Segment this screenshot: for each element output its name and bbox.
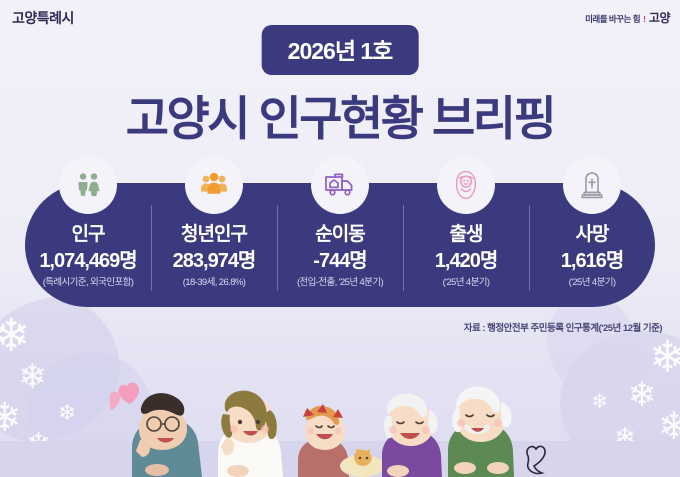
stat-note: (18-39세, 26.8%) <box>183 278 246 288</box>
stat-label: 청년인구 <box>181 225 247 244</box>
illustration-person-grandmother <box>382 393 442 477</box>
snowflake-icon: ❄ <box>26 430 51 460</box>
page-title: 고양시 인구현황 브리핑 <box>0 80 680 149</box>
heart-doodle-icon <box>527 446 545 473</box>
people-group-icon <box>189 160 239 210</box>
stat-note: ('25년 4분기) <box>569 278 616 288</box>
snowflake-icon: ❄ <box>591 392 608 412</box>
snowflake-icon: ❄ <box>649 336 680 380</box>
stat-card-population: 인구 1,074,469명 (특례시기준, 외국인포함) <box>25 160 151 310</box>
stat-card-deaths: 사망 1,616명 ('25년 4분기) <box>529 160 655 310</box>
stat-card-net-migration: 순이동 -744명 (전입-전출, '25년 4분기) <box>277 160 403 310</box>
illustration-person-grandfather <box>448 386 514 477</box>
stat-value: 1,616명 <box>561 251 623 271</box>
stat-label: 사망 <box>576 225 609 244</box>
illustration-person-mother <box>218 391 283 477</box>
snowflake-icon: ❄ <box>58 402 76 424</box>
snowflake-icon: ❄ <box>628 378 657 412</box>
stat-card-youth-population: 청년인구 283,974명 (18-39세, 26.8%) <box>151 160 277 310</box>
tombstone-icon <box>567 160 617 210</box>
stat-value: -744명 <box>313 251 366 271</box>
city-brand-logo: 고양특례시 <box>12 8 74 28</box>
stat-note: (전입-전출, '25년 4분기) <box>297 278 383 288</box>
stats-card-row: 인구 1,074,469명 (특례시기준, 외국인포함) 청년인구 283,97… <box>25 160 655 310</box>
illustration-person-father <box>132 393 202 477</box>
slogan-brand-mark: 고양 <box>649 9 670 26</box>
stat-label: 출생 <box>450 225 483 244</box>
two-people-icon <box>63 160 113 210</box>
city-slogan-logo: 미래를 바꾸는 힘! 고양 <box>585 9 670 26</box>
snowflake-icon: ❄ <box>18 360 47 394</box>
illustration-person-child <box>298 404 384 477</box>
source-note: 자료 : 행정안전부 주민등록 인구통계('25년 12월 기준) <box>464 320 662 334</box>
snowflake-icon: ❄ <box>614 424 636 450</box>
family-illustration <box>110 352 570 477</box>
stat-label: 순이동 <box>315 225 364 244</box>
stat-note: (특례시기준, 외국인포함) <box>43 278 134 288</box>
slogan-text: 미래를 바꾸는 힘 <box>585 13 640 25</box>
slogan-exclamation: ! <box>643 14 646 24</box>
snowflake-icon: ❄ <box>0 312 31 358</box>
snowflake-icon: ❄ <box>658 408 680 446</box>
stat-value: 1,074,469명 <box>39 251 136 271</box>
stat-value: 1,420명 <box>435 251 497 271</box>
swaddled-baby-icon <box>441 160 491 210</box>
stat-value: 283,974명 <box>173 251 256 271</box>
heart-decoration <box>110 382 139 410</box>
moving-truck-icon <box>315 160 365 210</box>
poster-canvas: ❄ ❄ ❄ ❄ ❄ ❄ ❄ ❄ ❄ ❄ 고양특례시 미래를 바꾸는 힘! 고양 … <box>0 0 680 477</box>
snowflake-icon: ❄ <box>0 398 22 438</box>
stat-note: ('25년 4분기) <box>443 278 490 288</box>
stat-card-births: 출생 1,420명 ('25년 4분기) <box>403 160 529 310</box>
stat-label: 인구 <box>72 225 105 244</box>
issue-number-badge: 2026년 1호 <box>262 25 419 75</box>
